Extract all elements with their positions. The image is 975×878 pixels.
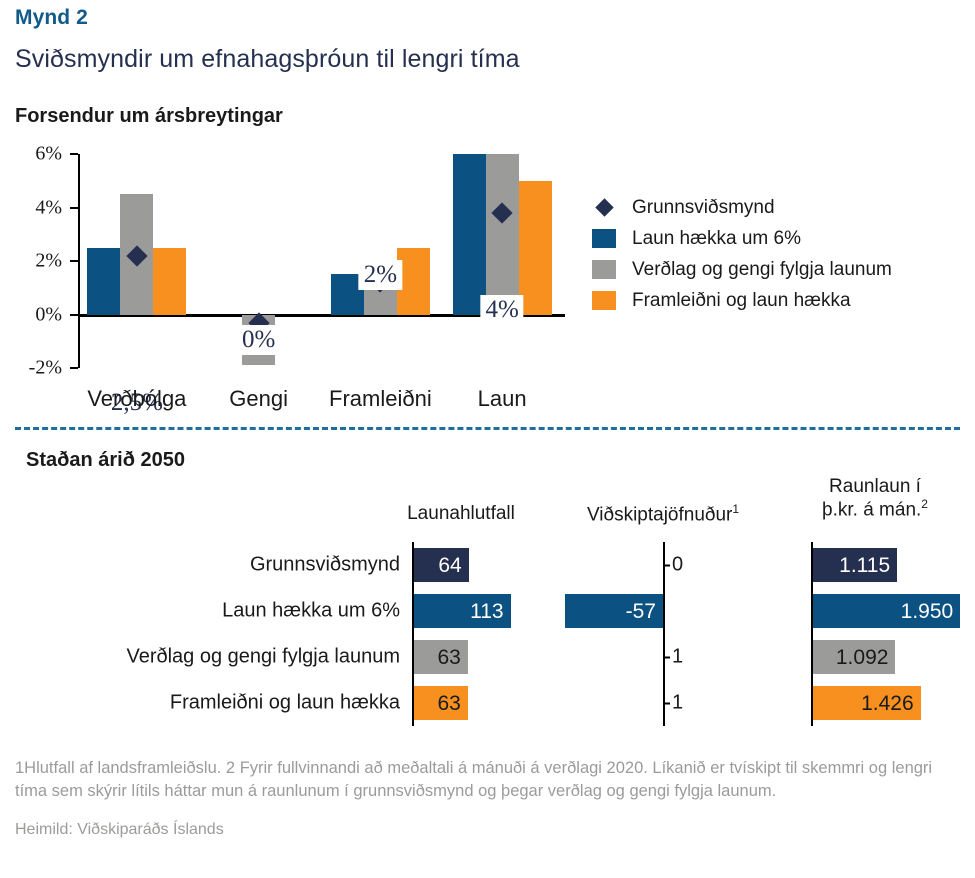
legend-item-label: Laun hækka um 6% [632,228,801,250]
y-axis-tick [70,260,78,262]
bar-value-vidskiptajofnudur: 0 [672,554,683,576]
bar-value-label: 0% [237,325,280,355]
column-header-launahlutfall: Launahlutfall [407,503,515,525]
footnote-marker-2: 2 [921,497,928,511]
y-axis-tick [70,314,78,316]
source-text: Heimild: Viðskiparáðs Íslands [15,821,960,839]
footnotes: 1Hlutfall af landsframleiðslu. 2 Fyrir f… [15,757,960,839]
chart-bar [453,154,486,315]
legend-item-label: Grunnsviðsmynd [632,197,775,219]
status-2050-table: LaunahlutfallViðskiptajöfnuður1Raunlaun … [0,470,975,740]
x-axis-category-label: Verðbólga [87,386,186,412]
bar-value-launahlutfall: 113 [470,601,503,622]
footnote-marker-1: 1 [732,502,739,516]
y-axis-tick-label: 4% [6,196,62,219]
figure-label: Mynd 2 [15,6,88,30]
bar-value-raunlaun: 1.115 [839,555,890,576]
y-axis-tick-label: 0% [6,303,62,326]
y-axis-tick [70,367,78,369]
x-axis-category-label: Gengi [229,386,288,412]
y-axis-tick-label: 6% [6,143,62,166]
table-row: 64 [414,548,469,582]
table-row: 0 [664,554,683,577]
chart-bar [87,248,120,315]
table-row: 113 [414,594,511,628]
column-header-raunlaun: Raunlaun íþ.kr. á mán.2 [822,476,928,521]
page-title: Sviðsmyndir um efnahagsþróun til lengri … [15,45,520,74]
chart-subtitle: Forsendur um ársbreytingar [15,105,283,128]
table-row: -57 [565,594,663,628]
legend-item[interactable]: Verðlag og gengi fylgja launum [592,254,892,285]
bar-value-raunlaun: 1.426 [861,693,914,714]
bar-value-launahlutfall: 64 [438,555,461,576]
table-section-title: Staðan árið 2050 [26,449,185,472]
bar-value-label: 2% [359,260,402,290]
bar-value-launahlutfall: 63 [438,647,461,668]
table-row: 63 [414,640,468,674]
column-header-raunlaun-line2: þ.kr. á mán.2 [822,498,928,521]
legend-item-label: Framleiðni og laun hækka [632,290,851,312]
legend-item[interactable]: Laun hækka um 6% [592,223,892,254]
legend-item[interactable]: Grunnsviðsmynd [592,192,892,223]
section-divider [15,427,960,430]
table-row: 63 [414,686,468,720]
color-swatch-icon [592,229,616,248]
bar-value-vidskiptajofnudur: 1 [672,646,683,668]
footnote-text: 1Hlutfall af landsframleiðslu. 2 Fyrir f… [15,757,960,804]
color-swatch-icon [592,291,616,310]
table-row-label: Laun hækka um 6% [222,600,400,623]
y-axis-line [78,154,80,368]
table-row-label: Verðlag og gengi fylgja launum [126,646,400,669]
column-header-raunlaun-line1: Raunlaun í [822,476,928,498]
chart-legend: GrunnsviðsmyndLaun hækka um 6%Verðlag og… [592,192,892,316]
table-row: 1.426 [813,686,921,720]
bar-value-raunlaun: 1.092 [836,647,889,668]
x-axis-category-label: Laun [478,386,527,412]
bar-value-raunlaun: 1.950 [901,601,954,622]
y-axis-tick [70,153,78,155]
legend-item[interactable]: Framleiðni og laun hækka [592,285,892,316]
y-axis-tick-label: -2% [6,357,62,380]
table-row: 1.092 [813,640,895,674]
table-row: 1.115 [813,548,897,582]
bar-value-vidskiptajofnudur: 1 [672,692,683,714]
color-swatch-icon [592,260,616,279]
legend-item-label: Verðlag og gengi fylgja launum [632,259,892,281]
table-row-label: Framleiðni og laun hækka [170,692,400,715]
column-header-vidskiptajofnudur: Viðskiptajöfnuður1 [587,503,739,526]
x-axis-category-label: Framleiðni [329,386,432,412]
table-row: 1.950 [813,594,960,628]
table-row-label: Grunnsviðsmynd [250,554,400,577]
diamond-icon [592,198,616,217]
chart-bar [486,154,519,315]
y-axis-tick [70,207,78,209]
y-axis-tick-label: 2% [6,250,62,273]
bar-value-launahlutfall: 63 [438,693,461,714]
table-row: 1 [664,692,683,715]
chart-bar [153,248,186,315]
bar-value-vidskiptajofnudur: -57 [626,601,656,622]
table-row: 1 [664,646,683,669]
bar-value-label: 4% [480,295,523,325]
